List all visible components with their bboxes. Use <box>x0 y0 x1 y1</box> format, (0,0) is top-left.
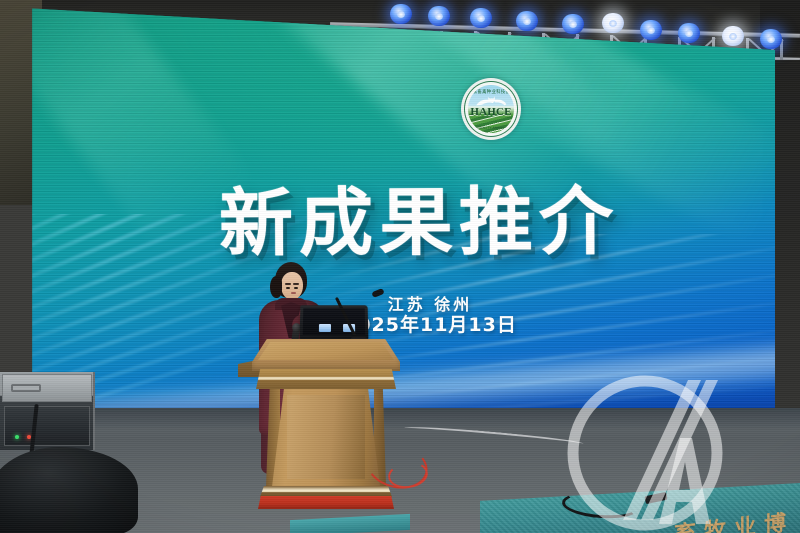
podium-lectern <box>252 339 400 509</box>
podium-front-panel <box>272 389 380 487</box>
screen-icon-left <box>319 324 331 332</box>
brow-left <box>285 283 291 285</box>
podium-top-surface <box>258 342 394 360</box>
stage-lamp-2 <box>428 6 450 26</box>
stage-lamp-10 <box>760 29 782 49</box>
podium-base-trim <box>260 486 392 497</box>
rack-handle <box>11 384 41 392</box>
emblem-chinese-ring-text: 国家畜禽种业科技创新大会 <box>468 89 514 95</box>
subtitle-date: 2025年11月13日 <box>30 310 800 337</box>
podium-red-base <box>258 496 394 509</box>
hahce-emblem-logo: HAHCE 国家畜禽种业科技创新大会 HIGH QUALITY ANIMAL H… <box>461 78 521 140</box>
stage-lamp-9 <box>722 26 744 46</box>
presenter-hair-side <box>270 276 282 298</box>
gooseneck-microphone <box>355 291 399 339</box>
podium-top <box>252 339 400 371</box>
floor-shadow <box>0 408 800 430</box>
main-title: 新成果推介 <box>19 161 800 272</box>
emblem-disc: HAHCE 国家畜禽种业科技创新大会 HIGH QUALITY ANIMAL H… <box>468 85 514 133</box>
brow-right <box>293 283 299 285</box>
stage-lamp-8 <box>678 23 700 43</box>
stage-lamp-3 <box>470 8 492 28</box>
emblem-acronym: HAHCE <box>468 107 514 118</box>
presenter-mouth <box>291 292 296 294</box>
podium-collar-trim <box>256 369 396 389</box>
stage-lamp-7 <box>640 20 662 40</box>
stage-lamp-6 <box>602 13 624 33</box>
emblem-english-ring-text: HIGH QUALITY ANIMAL HUSBANDRY CONFERENCE… <box>468 126 514 130</box>
rack-top-unit <box>2 374 92 402</box>
carpet-text: 畜牧业博 <box>674 504 794 533</box>
eye-right <box>294 287 298 289</box>
audio-equipment-rack <box>0 372 95 450</box>
stage-lamp-1 <box>390 4 412 24</box>
power-led-green-icon <box>15 435 19 439</box>
screenshot-root: HAHCE 国家畜禽种业科技创新大会 HIGH QUALITY ANIMAL H… <box>0 0 800 533</box>
floor-monitor-speaker <box>0 447 138 533</box>
eye-left <box>286 287 290 289</box>
stage-lamp-4 <box>516 11 538 31</box>
rack-front-panel <box>4 406 90 446</box>
stage-lamp-5 <box>562 14 584 34</box>
